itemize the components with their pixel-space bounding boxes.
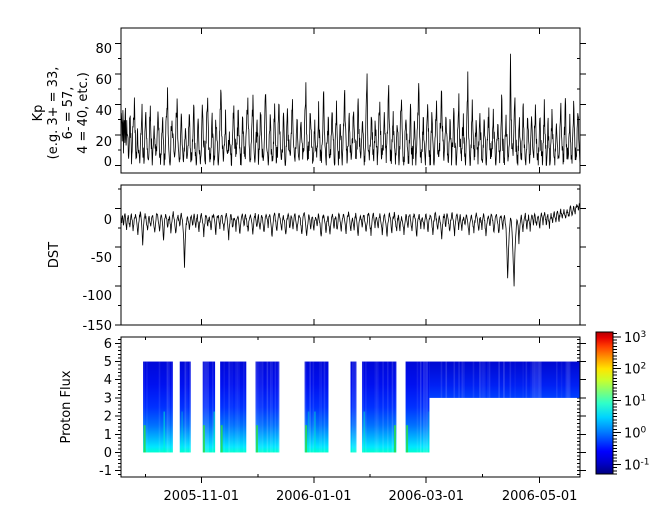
flux-column-striation (461, 362, 463, 398)
flux-column-striation (237, 362, 239, 453)
flux-column-striation (420, 362, 422, 453)
flux-column-striation (146, 362, 148, 453)
flux-column-striation (567, 362, 569, 398)
flux-column-striation (522, 362, 524, 398)
flux-column-striation (243, 362, 245, 453)
flux-green-edge (406, 425, 408, 452)
flux-column-striation (530, 362, 532, 398)
flux-column-striation (417, 362, 419, 453)
flux-column-striation (168, 362, 170, 453)
flux-column-striation (232, 362, 234, 453)
dst-ytick-minus50: -50 (91, 251, 112, 266)
x-tick-label: 2006-01-01 (276, 489, 352, 504)
flux-column-striation (270, 362, 272, 453)
flux-column-striation (259, 362, 261, 453)
flux-ytick-6: 6 (104, 337, 112, 352)
kp-ytick-20: 20 (95, 135, 112, 150)
flux-column-striation (230, 362, 232, 453)
flux-column-striation (535, 362, 537, 398)
flux-column-striation (441, 362, 443, 398)
flux-column-striation (324, 362, 326, 453)
flux-green-edge (305, 425, 307, 452)
flux-column-striation (353, 362, 354, 453)
flux-column-striation (514, 362, 516, 398)
flux-column-striation (309, 362, 311, 453)
flux-column-striation (352, 362, 353, 453)
flux-column-striation (275, 362, 277, 453)
flux-column-striation (278, 362, 280, 453)
kp-ytick-80: 80 (95, 42, 112, 57)
dst-ytick-minus100: -100 (82, 289, 112, 304)
x-tick-label: 2006-05-01 (502, 489, 578, 504)
flux-column-striation (473, 362, 475, 398)
flux-column-enhancement (308, 412, 310, 453)
flux-column-striation (262, 362, 264, 453)
kp-ylabel-line-3: 4 = 40, etc.) (76, 72, 91, 154)
flux-column-striation (223, 362, 225, 453)
flux-column-striation (228, 362, 230, 453)
colorbar-gradient (596, 332, 613, 474)
flux-column-striation (235, 362, 237, 453)
flux-column-striation (392, 362, 394, 453)
flux-column-striation (503, 362, 505, 398)
dst-ylabel: DST (47, 242, 62, 268)
flux-column-striation (425, 362, 427, 453)
flux-column-striation (212, 362, 214, 453)
flux-column-striation (510, 362, 512, 398)
scientific-figure: Kp (e.g. 3+ = 33, 6- = 57, 4 = 40, etc.)… (0, 0, 665, 523)
x-tick-label: 2006-03-01 (388, 489, 464, 504)
flux-column-striation (238, 362, 240, 453)
flux-column-striation (538, 362, 540, 398)
kp-ytick-40: 40 (95, 104, 112, 119)
flux-column-striation (566, 362, 568, 398)
flux-column-striation (319, 362, 321, 453)
flux-ytick--1: -1 (99, 464, 112, 479)
flux-column-striation (167, 362, 169, 453)
flux-column-striation (532, 362, 534, 398)
flux-ytick-4: 4 (104, 373, 112, 388)
kp-ytick-0: 0 (104, 155, 112, 170)
flux-ytick-2: 2 (104, 410, 112, 425)
flux-column-striation (561, 362, 563, 398)
flux-column-striation (313, 362, 315, 453)
flux-green-edge (144, 425, 146, 452)
flux-column-striation (159, 362, 161, 453)
flux-column-striation (458, 362, 460, 398)
x-tick-label: 2005-11-01 (164, 489, 240, 504)
flux-column-striation (482, 362, 484, 398)
flux-column-striation (184, 362, 186, 453)
flux-column-striation (484, 362, 486, 398)
flux-green-edge (203, 425, 205, 452)
flux-column-striation (321, 362, 323, 453)
flux-column-striation (374, 362, 376, 453)
flux-column-enhancement (163, 412, 165, 453)
flux-column-striation (207, 362, 209, 453)
flux-column-enhancement (428, 412, 430, 453)
kp-ylabel-line-0: Kp (31, 105, 46, 122)
flux-column-striation (423, 362, 425, 453)
dst-ytick-minus150: -150 (82, 319, 112, 334)
flux-column-striation (267, 362, 269, 453)
flux-column-striation (355, 362, 356, 453)
flux-column-striation (489, 362, 491, 398)
flux-column-striation (186, 362, 188, 453)
flux-column-striation (426, 362, 428, 453)
flux-column-striation (387, 362, 389, 453)
flux-ytick-1: 1 (104, 428, 112, 443)
flux-column-striation (534, 362, 536, 398)
flux-block (362, 362, 396, 453)
flux-column-enhancement (181, 412, 183, 453)
flux-column-striation (445, 362, 447, 398)
flux-green-edge (394, 425, 396, 452)
flux-column-enhancement (314, 412, 316, 453)
kp-ytick-60: 60 (95, 73, 112, 88)
flux-column-striation (189, 362, 191, 453)
flux-column-striation (498, 362, 500, 398)
flux-green-edge (221, 425, 223, 452)
flux-column-striation (463, 362, 465, 398)
flux-ylabel: Proton Flux (59, 370, 74, 443)
flux-column-striation (537, 362, 539, 398)
flux-column-striation (365, 362, 367, 453)
kp-ylabel-line-2: 6- = 57, (61, 87, 76, 140)
kp-ylabel-line-1: (e.g. 3+ = 33, (46, 67, 61, 160)
flux-green-edge (256, 425, 258, 452)
flux-column-enhancement (364, 412, 366, 453)
flux-column-striation (260, 362, 262, 453)
flux-ytick-0: 0 (104, 446, 112, 461)
flux-column-striation (479, 362, 481, 398)
flux-ytick-5: 5 (104, 355, 112, 370)
flux-column-striation (378, 362, 380, 453)
flux-column-striation (206, 362, 208, 453)
flux-column-striation (382, 362, 384, 453)
flux-column-striation (481, 362, 483, 398)
flux-column-striation (569, 362, 571, 398)
flux-column-striation (526, 362, 528, 398)
flux-column-striation (540, 362, 542, 398)
flux-column-enhancement (214, 412, 216, 453)
flux-column-striation (487, 362, 489, 398)
flux-column-striation (362, 362, 364, 453)
flux-ytick-3: 3 (104, 391, 112, 406)
flux-column-striation (171, 362, 173, 453)
dst-ytick-0: 0 (104, 213, 112, 228)
flux-column-striation (376, 362, 378, 453)
flux-column-striation (453, 362, 455, 398)
flux-column-striation (556, 362, 558, 398)
flux-column-striation (271, 362, 273, 453)
